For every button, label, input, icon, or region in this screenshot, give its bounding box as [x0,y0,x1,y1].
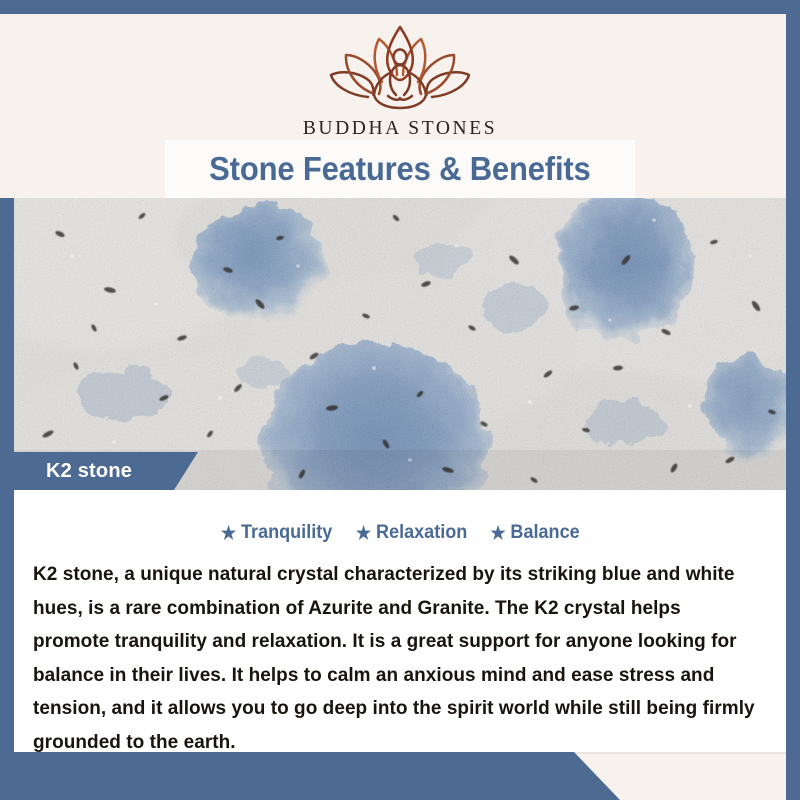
brand-logo: BUDDHA STONES [0,22,800,140]
border-bottom [0,752,620,800]
description-paragraph: K2 stone, a unique natural crystal chara… [33,558,758,759]
border-left [0,198,14,800]
star-icon: ★ [356,524,371,542]
star-icon: ★ [221,524,236,542]
benefits-list: ★ Tranquility ★ Relaxation ★ Balance [14,522,786,544]
infographic-page: BUDDHA STONES [0,0,800,800]
benefit-item-relaxation: ★ Relaxation [356,522,467,544]
stone-name-ribbon: K2 stone [14,452,198,490]
border-top [0,0,800,14]
stone-photo-image [14,198,786,490]
content-card: ★ Tranquility ★ Relaxation ★ Balance K2 … [14,490,786,752]
brand-name: BUDDHA STONES [303,118,497,140]
benefit-label: Relaxation [376,522,467,544]
stone-photo [14,198,786,490]
benefit-label: Balance [511,522,580,544]
lotus-meditation-icon [326,22,474,114]
page-title: Stone Features & Benefits [209,150,590,188]
benefit-item-balance: ★ Balance [491,522,580,544]
star-icon: ★ [491,524,506,542]
benefit-item-tranquility: ★ Tranquility [221,522,332,544]
stone-name-label: K2 stone [14,460,132,483]
border-right [786,0,800,800]
benefit-label: Tranquility [241,522,332,544]
title-banner: Stone Features & Benefits [165,140,635,198]
